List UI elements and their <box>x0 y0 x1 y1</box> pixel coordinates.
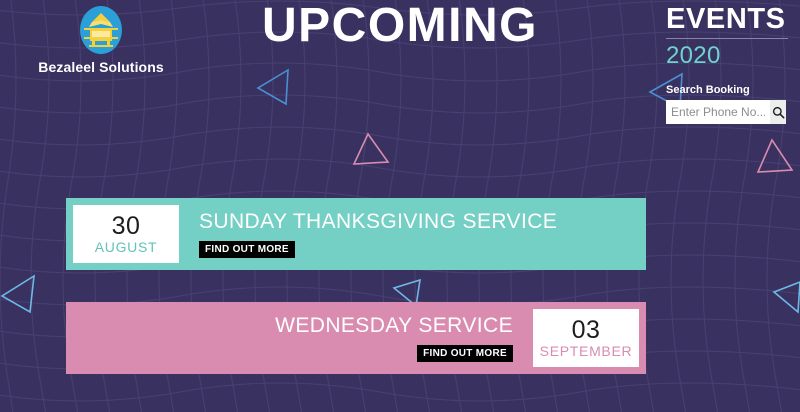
upcoming-events-page: Bezaleel Solutions UPCOMING EVENTS 2020 … <box>0 0 800 412</box>
event-title: WEDNESDAY SERVICE <box>275 314 513 338</box>
event-title-panel: WEDNESDAY SERVICE FIND OUT MORE <box>66 302 526 374</box>
triangle-blue-left-mid <box>0 272 46 318</box>
event-month: AUGUST <box>95 239 158 256</box>
events-heading: EVENTS <box>666 0 788 36</box>
brand-logo-block[interactable]: Bezaleel Solutions <box>26 4 176 75</box>
find-out-more-button[interactable]: FIND OUT MORE <box>199 241 295 258</box>
find-out-more-button[interactable]: FIND OUT MORE <box>417 345 513 362</box>
event-date-inner: 03 SEPTEMBER <box>533 309 639 367</box>
event-month: SEPTEMBER <box>540 343 633 360</box>
event-date-inner: 30 AUGUST <box>73 205 179 263</box>
event-title: SUNDAY THANKSGIVING SERVICE <box>199 210 557 234</box>
event-date-box: 30 AUGUST <box>66 198 186 270</box>
ark-tabernacle-icon <box>76 4 126 56</box>
triangle-blue-top-left-area <box>252 66 296 108</box>
search-icon <box>772 106 785 119</box>
events-year: 2020 <box>666 42 788 70</box>
event-title-panel: SUNDAY THANKSGIVING SERVICE FIND OUT MOR… <box>186 198 646 270</box>
event-card[interactable]: 30 AUGUST SUNDAY THANKSGIVING SERVICE FI… <box>66 198 646 270</box>
event-card[interactable]: 03 SEPTEMBER WEDNESDAY SERVICE FIND OUT … <box>66 302 646 374</box>
events-divider <box>666 38 788 39</box>
arrow-left-icon <box>516 329 526 347</box>
events-sidebar: EVENTS 2020 Search Booking <box>666 0 788 124</box>
search-booking-row <box>666 100 786 124</box>
triangle-pink-right-mid <box>756 136 800 180</box>
search-input[interactable] <box>666 100 770 124</box>
search-button[interactable] <box>770 100 786 124</box>
brand-name: Bezaleel Solutions <box>26 59 176 75</box>
triangle-blue-bottom-right <box>772 278 800 318</box>
event-date-box: 03 SEPTEMBER <box>526 302 646 374</box>
search-booking-label: Search Booking <box>666 84 788 96</box>
triangle-pink-upper-mid <box>350 130 394 172</box>
event-day: 03 <box>572 317 601 343</box>
event-day: 30 <box>112 213 141 239</box>
